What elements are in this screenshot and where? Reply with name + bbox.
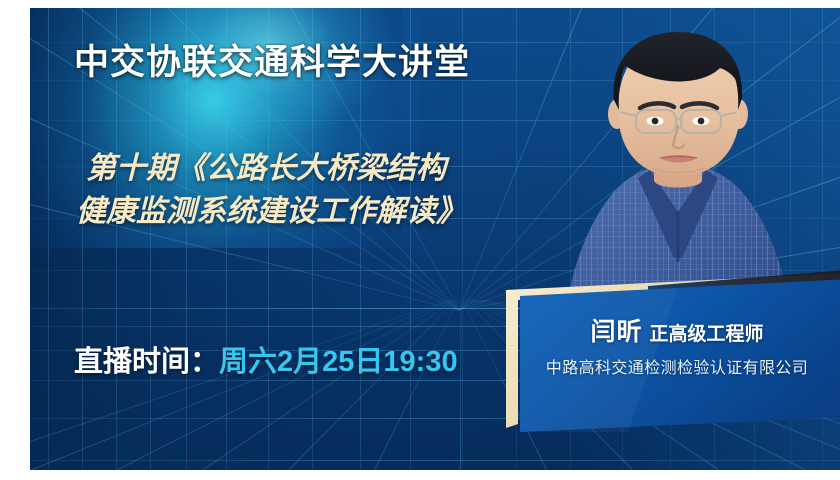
poster-title: 中交协联交通科学大讲堂 <box>74 34 470 85</box>
speaker-name-row: 闫昕正高级工程师 <box>498 312 840 348</box>
speaker-card-text: 闫昕正高级工程师 中路高科交通检测检验认证有限公司 <box>498 266 840 441</box>
live-time-row: 直播时间：周六2月25日19:30 <box>74 338 458 380</box>
live-time-label: 直播时间： <box>74 346 219 378</box>
speaker-role: 正高级工程师 <box>650 324 764 345</box>
speaker-name: 闫昕 <box>590 318 642 346</box>
poster-stage: 中交协联交通科学大讲堂 第十期《公路长大桥梁结构 健康监测系统建设工作解读》 直… <box>30 8 840 470</box>
poster-subtitle: 第十期《公路长大桥梁结构 健康监测系统建设工作解读》 <box>86 148 466 233</box>
live-time-value: 周六2月25日19:30 <box>219 346 458 378</box>
speaker-organization: 中路高科交通检测检验认证有限公司 <box>498 354 840 378</box>
subtitle-line-1: 第十期《公路长大桥梁结构 <box>86 152 446 185</box>
poster-root: 中交协联交通科学大讲堂 第十期《公路长大桥梁结构 健康监测系统建设工作解读》 直… <box>0 0 840 480</box>
speaker-info-card: 闫昕正高级工程师 中路高科交通检测检验认证有限公司 <box>498 266 840 441</box>
subtitle-line-2: 健康监测系统建设工作解读》 <box>76 191 466 234</box>
